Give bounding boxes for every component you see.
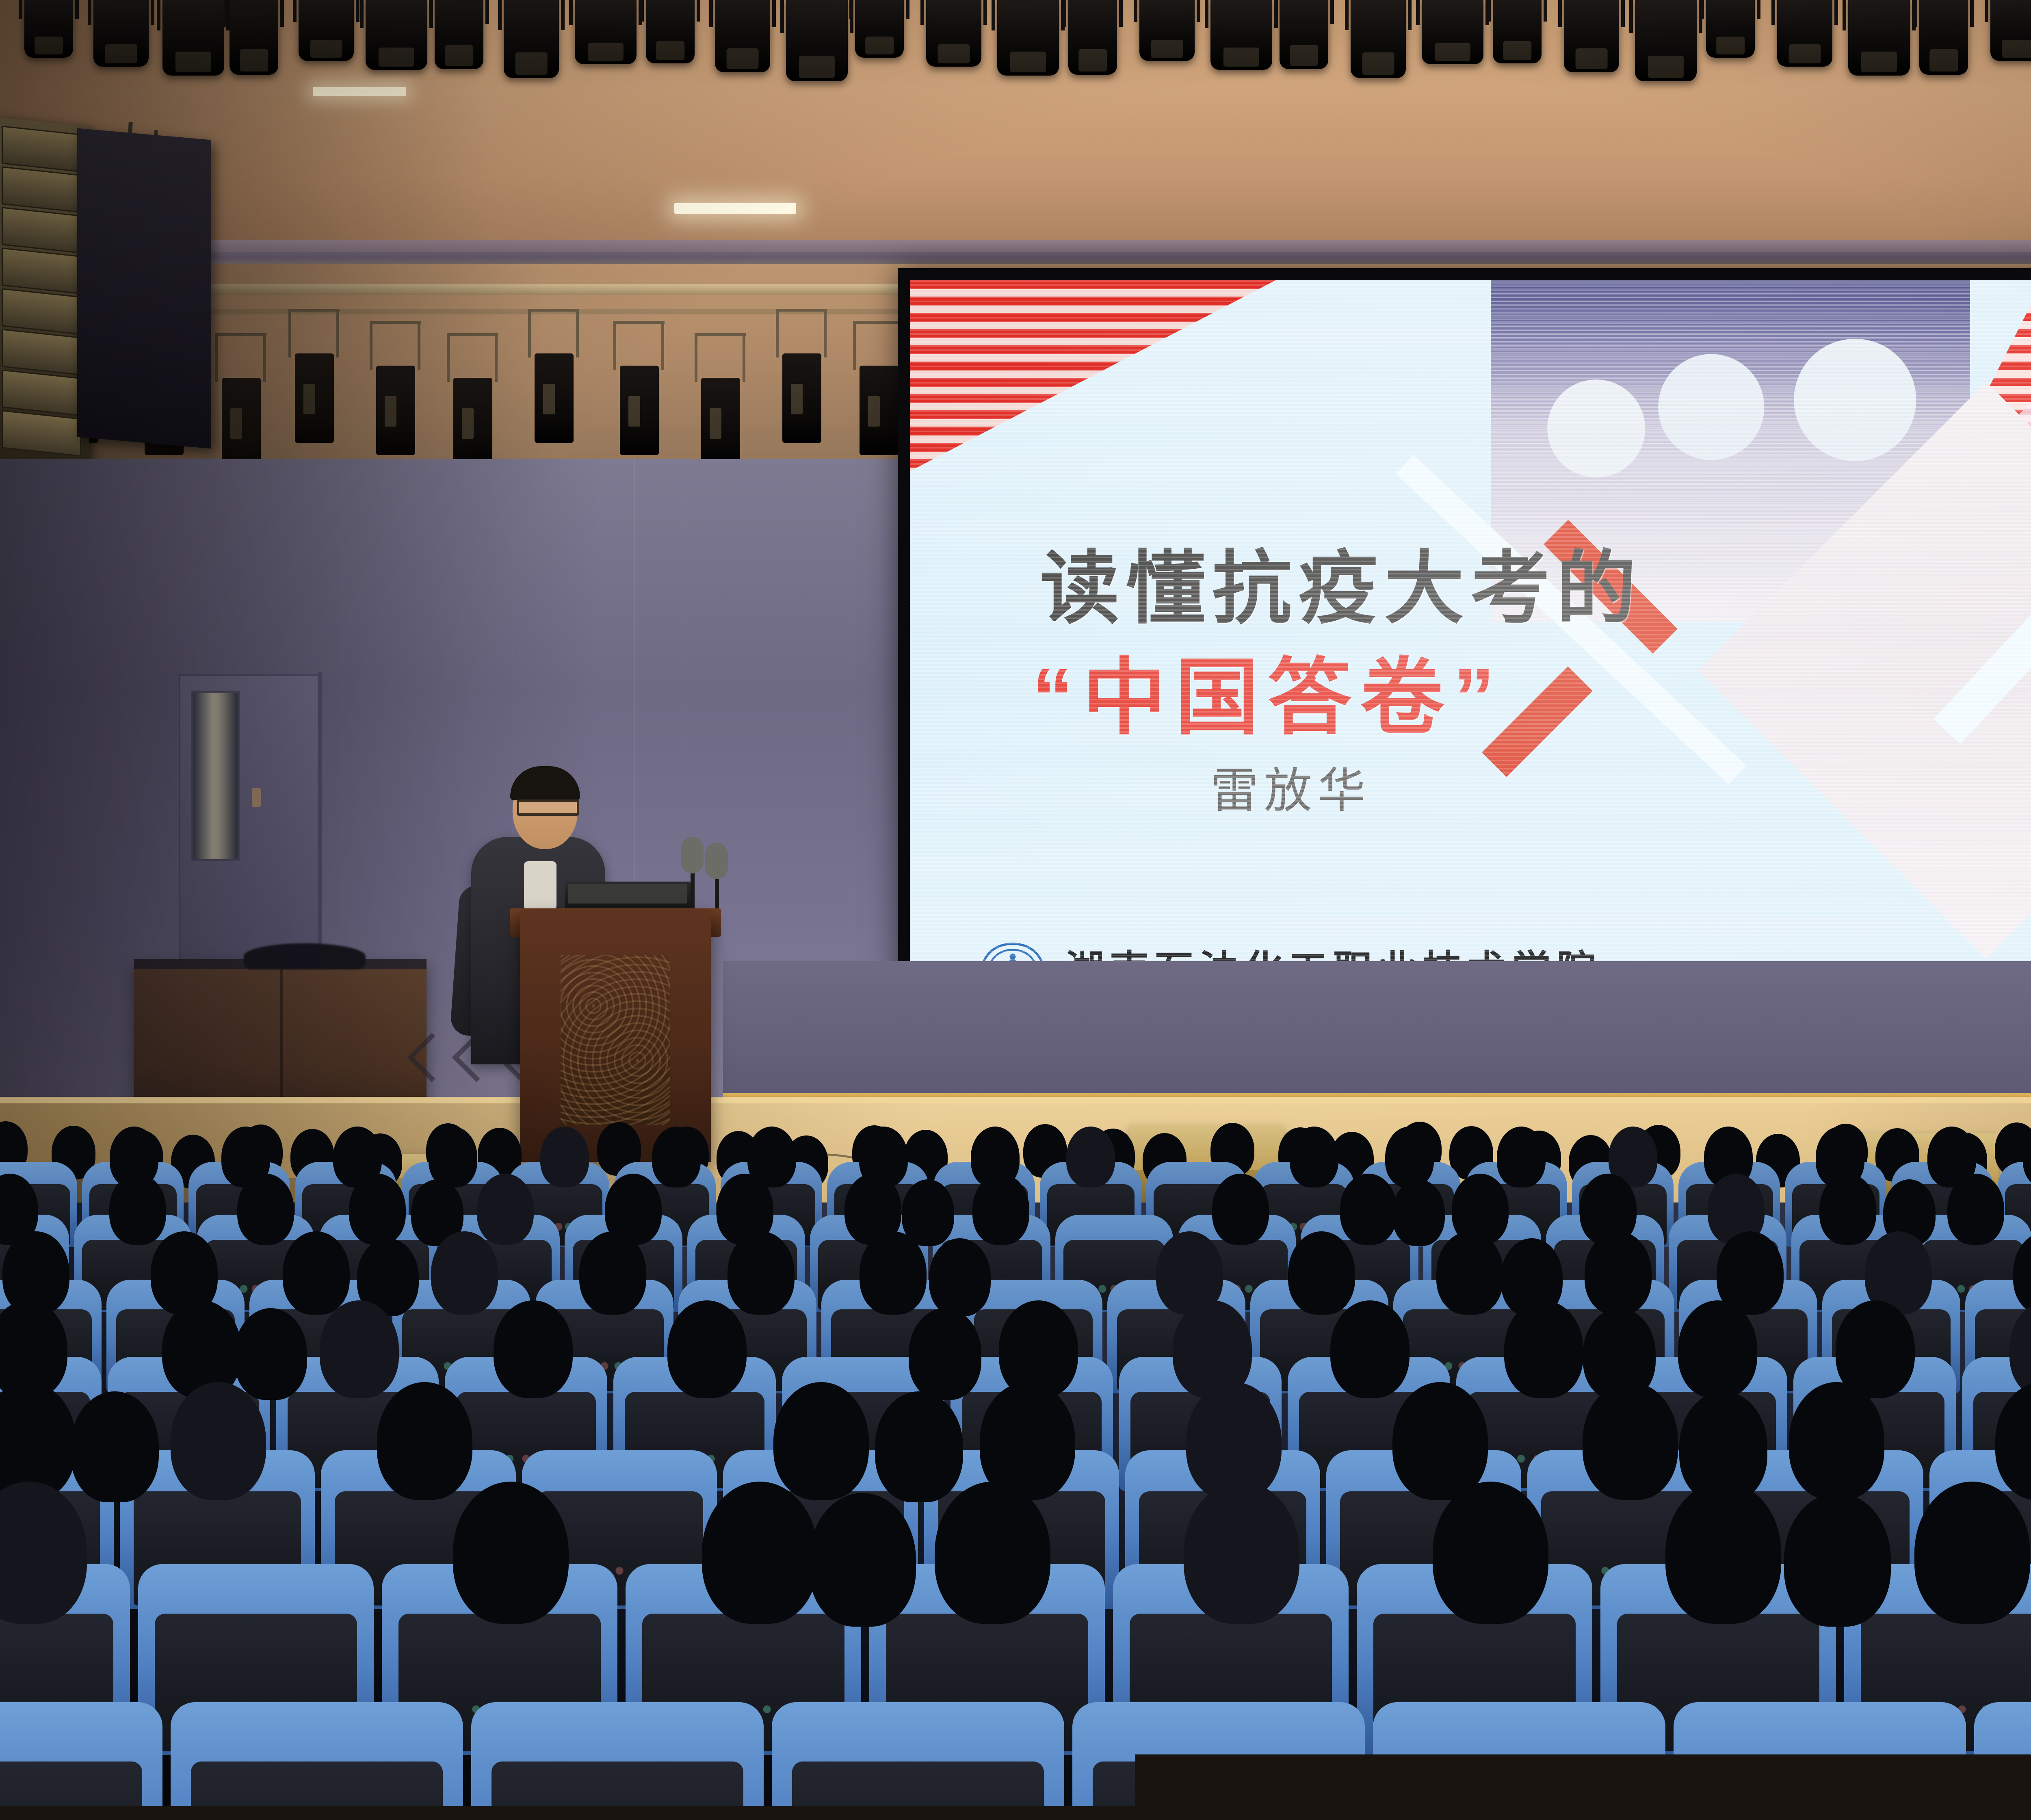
ceiling-spotlight <box>504 0 559 78</box>
ceiling-spotlight <box>1422 0 1483 64</box>
ceiling-spotlight <box>366 0 427 70</box>
microphone-icon <box>705 843 728 879</box>
ceiling-spotlight <box>1210 0 1272 70</box>
fluorescent-light-fixture <box>674 203 796 214</box>
ceiling-spotlight <box>715 0 770 72</box>
audience-member-head <box>453 1482 569 1624</box>
stage-front-wall <box>723 961 2031 1099</box>
audience-member-head <box>1504 1300 1583 1398</box>
audience-member-head <box>667 1300 747 1398</box>
podium-carved-panel <box>561 955 670 1125</box>
audience-member-head <box>652 1127 701 1187</box>
ceiling-spotlight <box>24 0 73 58</box>
ceiling-spotlight <box>926 0 981 67</box>
ceiling-spotlight <box>299 0 354 61</box>
audience-member-head <box>999 1300 1078 1398</box>
audience-member-head <box>860 1231 927 1315</box>
audience-member-head <box>875 1391 963 1502</box>
audience-member-head <box>283 1231 350 1315</box>
auditorium-seat[interactable] <box>772 1702 1064 1820</box>
audience-member-head <box>809 1493 916 1627</box>
audience-member-head <box>1184 1482 1299 1624</box>
audience-member-head <box>171 1382 266 1500</box>
audience-member-head <box>1585 1231 1652 1315</box>
ceiling-spotlight <box>855 0 904 58</box>
audience-member-head <box>1433 1482 1548 1624</box>
auditorium-seat[interactable] <box>171 1702 463 1820</box>
audience-member-head <box>728 1231 795 1315</box>
audience-member-head <box>109 1174 166 1245</box>
audience-member-head <box>477 1174 534 1245</box>
ceiling-spotlight <box>1139 0 1195 61</box>
audience-member-head <box>349 1174 406 1245</box>
laptop-screen <box>568 884 687 903</box>
audience-member-head <box>1340 1174 1397 1245</box>
ceiling-spotlight <box>997 0 1059 76</box>
ceiling-spotlight <box>435 0 483 69</box>
audience-member-head <box>1914 1482 2030 1624</box>
audience-member-head <box>429 1127 477 1187</box>
stage-left-speaker-cabinet <box>77 128 211 449</box>
audience-member-head <box>494 1300 573 1398</box>
audience-member-head <box>234 1308 307 1400</box>
speaker-shirt <box>524 861 556 910</box>
auditorium-seat[interactable] <box>0 1702 162 1820</box>
audience-member-head <box>935 1482 1050 1624</box>
auditorium-seat[interactable] <box>1373 1702 1665 1820</box>
ceiling-spotlight <box>1777 0 1832 67</box>
audience-member-head <box>1288 1231 1355 1315</box>
fluorescent-light-fixture <box>313 87 406 96</box>
ceiling-spotlight <box>1564 0 1619 72</box>
auditorium-seat[interactable] <box>471 1702 764 1820</box>
ceiling-spotlight <box>786 0 848 81</box>
ceiling-spotlight <box>646 0 695 63</box>
audience-member-head <box>162 1300 241 1398</box>
led-presentation-screen[interactable]: 读懂抗疫大考的 “中国答卷” 雷放华 湖南石油化工职业技术学院 HUNAN PE… <box>910 280 2031 1052</box>
ceiling-spotlight <box>1068 0 1117 75</box>
audience-member-head <box>1212 1174 1269 1245</box>
audience-member-head <box>1392 1382 1488 1500</box>
ceiling-spotlight <box>1493 0 1542 63</box>
audience-member-head <box>377 1382 472 1500</box>
audience-member-head <box>1290 1127 1338 1187</box>
audience-member-head <box>1678 1300 1757 1398</box>
audience-member-head <box>1392 1179 1445 1246</box>
ceiling-spotlight <box>162 0 224 76</box>
slide-title-line2: “中国答卷” <box>1032 630 1804 751</box>
audience-member-head <box>1066 1127 1115 1187</box>
slide-title-line1: 读懂抗疫大考的 <box>1040 524 1812 639</box>
audience-member-head <box>1784 1493 1890 1627</box>
audience-member-head <box>902 1179 954 1246</box>
ceiling-spotlight <box>230 0 278 75</box>
audience-member-head <box>773 1382 869 1500</box>
ceiling-spotlight <box>1280 0 1328 69</box>
audience-member-head <box>71 1391 158 1502</box>
ceiling-spotlight <box>1919 0 1968 75</box>
ceiling-spotlight <box>93 0 149 67</box>
ceiling-spotlight <box>575 0 637 64</box>
audience-member-head <box>929 1238 991 1317</box>
audience-member-head <box>1436 1231 1503 1315</box>
line-array-speaker <box>0 117 89 480</box>
auditorium-scene: (function(){ const row=document.getEleme… <box>0 0 2031 1820</box>
auditorium-seat[interactable] <box>1974 1702 2031 1820</box>
auditorium-seat[interactable] <box>1674 1702 1966 1820</box>
ceiling-spotlight <box>1990 0 2031 61</box>
ceiling-spotlight <box>1635 0 1697 81</box>
audience-member-head <box>1789 1382 1884 1500</box>
stage-edge-lip <box>0 1097 2031 1103</box>
ceiling-spotlight <box>1706 0 1755 58</box>
ceiling-spotlight <box>1848 0 1910 76</box>
audience-member-head <box>540 1127 589 1187</box>
audience-member-head <box>909 1308 981 1400</box>
audience-member-head <box>1947 1174 2004 1245</box>
audience-member-head <box>702 1482 818 1624</box>
audience-member-head <box>1665 1482 1781 1624</box>
microphone-icon <box>681 837 704 873</box>
seat-grid <box>0 1178 2031 1820</box>
auditorium-seat[interactable] <box>1072 1702 1365 1820</box>
audience-member-head <box>431 1231 498 1315</box>
audience-member-head <box>1497 1127 1546 1187</box>
audience-member-head <box>1819 1174 1876 1245</box>
audience-member-head <box>972 1174 1029 1245</box>
speaker-eyeglasses-icon <box>517 799 579 816</box>
slide-author-name: 雷放华 <box>1210 752 1739 821</box>
audience-member-head <box>1330 1300 1410 1398</box>
audience-member-head <box>1385 1127 1434 1187</box>
audience-member-head <box>237 1174 294 1245</box>
audience-member-head <box>1836 1300 1915 1398</box>
audience-member-head <box>579 1231 646 1315</box>
audience-member-head <box>1583 1382 1678 1500</box>
audience-member-head <box>320 1300 399 1398</box>
ceiling-spotlight <box>1351 0 1406 78</box>
